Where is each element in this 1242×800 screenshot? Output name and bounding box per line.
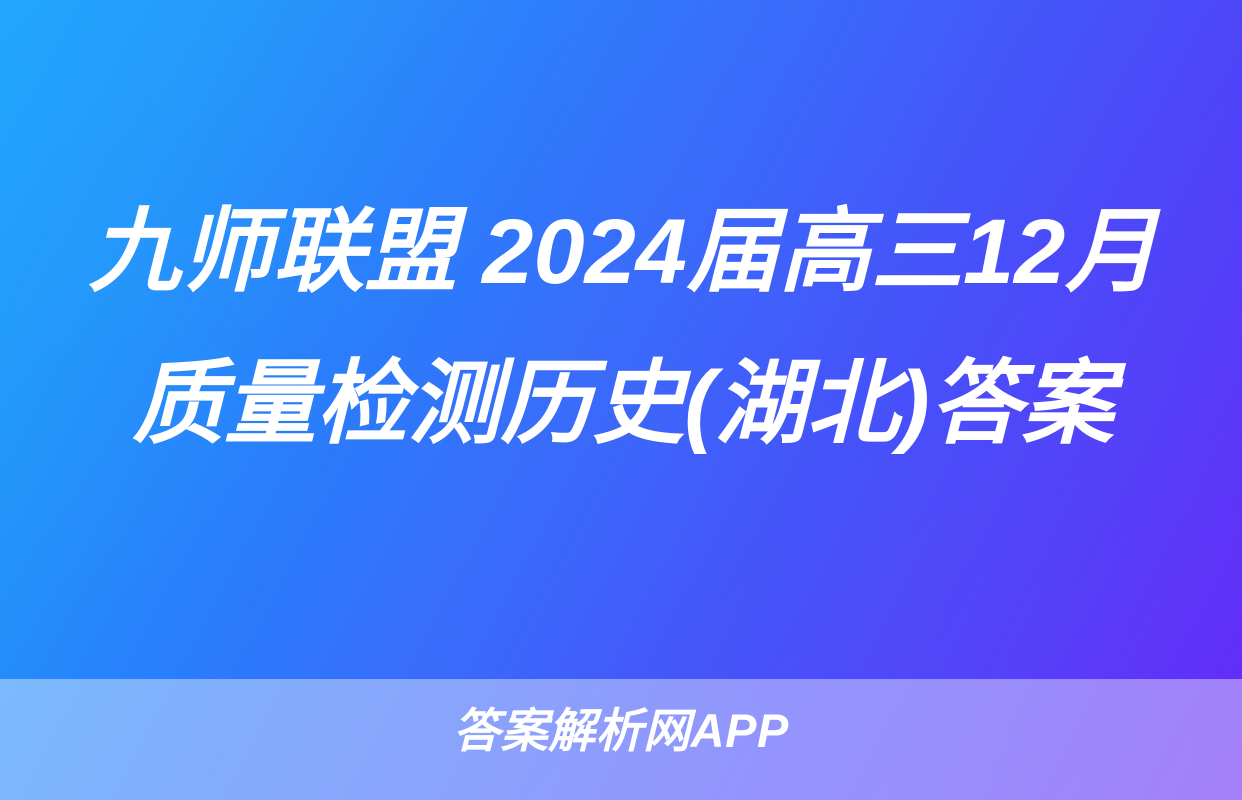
page-title: 九师联盟 2024届高三12月质量检测历史(湖北)答案 bbox=[84, 176, 1162, 480]
watermark-label: 答案解析网APP bbox=[0, 700, 1242, 762]
answer-cover-poster: 九师联盟 2024届高三12月质量检测历史(湖北)答案 答案解析网APP bbox=[0, 0, 1242, 800]
